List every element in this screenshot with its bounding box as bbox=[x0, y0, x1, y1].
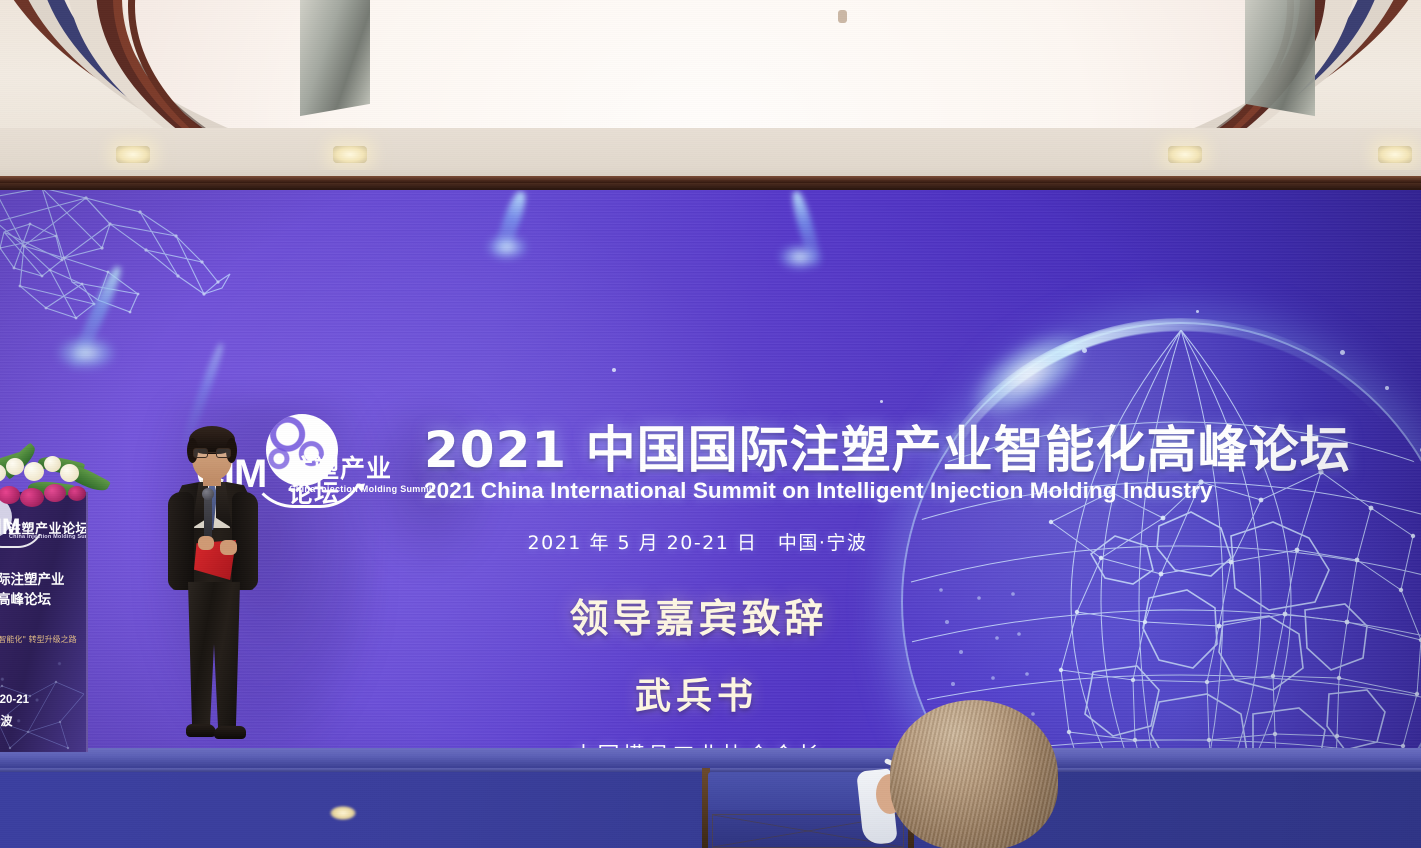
flower-white bbox=[24, 462, 44, 481]
audience-member-head bbox=[890, 700, 1058, 848]
speaker-hand-left bbox=[198, 536, 214, 550]
flower-white bbox=[44, 456, 61, 472]
session-heading-text: 领导嘉宾致辞 bbox=[569, 597, 827, 642]
ceiling bbox=[0, 0, 1421, 190]
microphone-head-icon bbox=[202, 488, 214, 500]
speaker-shoe-left bbox=[186, 724, 216, 737]
star-dot bbox=[612, 368, 616, 372]
cove-light-icon bbox=[1168, 146, 1202, 163]
logo-chinese-name: 注塑产业论坛 bbox=[288, 456, 412, 506]
speaker-trousers bbox=[188, 582, 240, 730]
glasses-icon bbox=[193, 448, 231, 459]
audience-hair bbox=[890, 700, 1058, 848]
podium: CIM 注塑产业论坛 China Injection Molding Summi… bbox=[0, 492, 88, 752]
wireframe-hand-icon bbox=[0, 190, 250, 374]
podium-title-line2: 能化高峰论坛 bbox=[0, 588, 51, 608]
conference-stage-photo: CIM 注塑产业论坛 China Injection Molding Summi… bbox=[0, 0, 1421, 848]
star-dot bbox=[880, 400, 883, 403]
speaker-shoe-right bbox=[214, 726, 246, 739]
podium-slogan: "+智能化" 转型升级之路 bbox=[0, 634, 77, 645]
light-beam-glow bbox=[56, 336, 116, 370]
podium-place: 国·宁波 bbox=[0, 712, 13, 729]
flower-orchid bbox=[44, 484, 66, 502]
event-title-chinese: 2021 中国国际注塑产业智能化高峰论坛 bbox=[424, 424, 1351, 477]
cove-light-icon bbox=[1378, 146, 1412, 163]
floral-arrangement bbox=[0, 452, 116, 514]
logo-english-name: China Injection Molding Summit bbox=[289, 484, 435, 494]
flower-white bbox=[60, 464, 79, 482]
flower-white bbox=[6, 458, 24, 475]
microphone-icon bbox=[204, 494, 212, 542]
speaker-hand-right bbox=[220, 540, 237, 555]
podium-logo-english: China Injection Molding Summit bbox=[9, 534, 88, 540]
podium-date: 21.5.20-21 bbox=[0, 694, 29, 706]
cove-light-icon bbox=[116, 146, 150, 163]
flower-orchid bbox=[68, 486, 86, 501]
podium-mesh-graphic bbox=[0, 662, 88, 752]
ceiling-sidelight-left bbox=[300, 0, 370, 116]
speaker-person bbox=[160, 424, 272, 754]
cove-light-icon bbox=[333, 146, 367, 163]
light-beam-glow bbox=[486, 234, 528, 260]
star-dot bbox=[1196, 310, 1199, 313]
podium-title-line1: 国国际注塑产业 bbox=[0, 568, 65, 588]
floor-light-reflection bbox=[330, 806, 356, 820]
ceiling-sidelight-right bbox=[1245, 0, 1315, 116]
event-title-english: 2021 China International Summit on Intel… bbox=[424, 478, 1213, 504]
ceiling-pendant-icon bbox=[838, 10, 847, 23]
speaker-arm-left bbox=[168, 492, 194, 590]
event-date-location-text: 2021 年 5 月 20-21 日 中国·宁波 bbox=[528, 532, 868, 554]
speaker-name-text: 武兵书 bbox=[635, 676, 758, 717]
flower-orchid bbox=[20, 488, 44, 507]
flower-orchid bbox=[0, 486, 20, 504]
light-beam-glow bbox=[778, 244, 822, 270]
speaker-arm-right bbox=[232, 492, 258, 590]
